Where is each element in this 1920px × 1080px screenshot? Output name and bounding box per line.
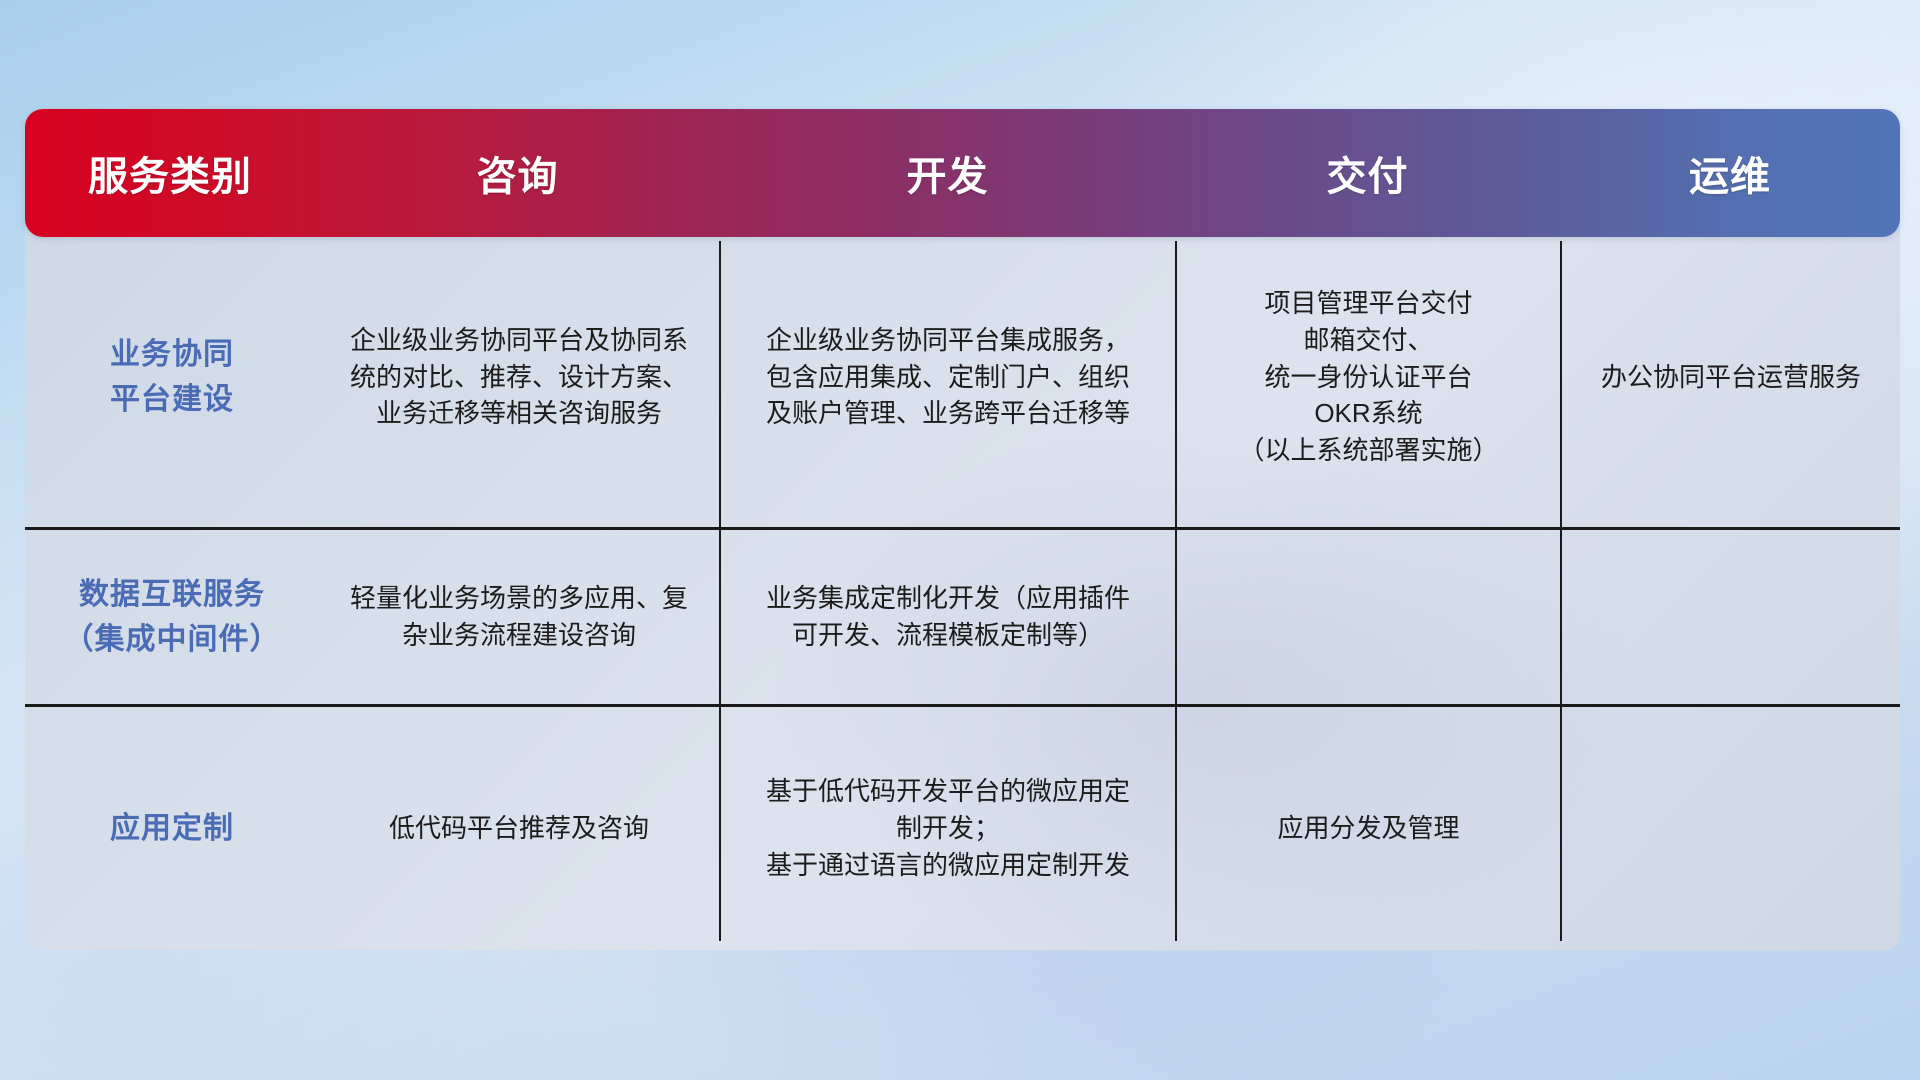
header-cell-consulting: 咨询 <box>315 144 720 202</box>
cell-category-3: 应用定制 <box>110 806 234 851</box>
cell-operations-1-wrap[interactable]: 办公协同平台运营服务 <box>1562 227 1900 527</box>
table-row[interactable]: 数据互联服务 （集成中间件） <box>25 530 319 704</box>
cell-consulting-2-wrap[interactable]: 轻量化业务场景的多应用、复 杂业务流程建设咨询 <box>319 530 719 704</box>
header-cell-delivery: 交付 <box>1175 144 1560 202</box>
cell-consulting-3: 低代码平台推荐及咨询 <box>389 810 649 847</box>
cell-development-3: 基于低代码开发平台的微应用定 制开发； 基于通过语言的微应用定制开发 <box>766 773 1130 884</box>
table-row[interactable]: 业务协同 平台建设 <box>25 227 319 527</box>
cell-delivery-1: 项目管理平台交付 邮箱交付、 统一身份认证平台 OKR系统 （以上系统部署实施） <box>1238 285 1498 470</box>
cell-consulting-3-wrap[interactable]: 低代码平台推荐及咨询 <box>319 707 719 950</box>
cell-development-1-wrap[interactable]: 企业级业务协同平台集成服务， 包含应用集成、定制门户、组织 及账户管理、业务跨平… <box>721 227 1175 527</box>
cell-category-1: 业务协同 平台建设 <box>110 332 234 422</box>
cell-operations-3-wrap[interactable] <box>1562 707 1900 950</box>
cell-delivery-1-wrap[interactable]: 项目管理平台交付 邮箱交付、 统一身份认证平台 OKR系统 （以上系统部署实施） <box>1177 227 1560 527</box>
header-cell-operations: 运维 <box>1560 144 1900 202</box>
cell-operations-2-wrap[interactable] <box>1562 530 1900 704</box>
cell-development-2: 业务集成定制化开发（应用插件 可开发、流程模板定制等） <box>766 580 1130 654</box>
cell-development-3-wrap[interactable]: 基于低代码开发平台的微应用定 制开发； 基于通过语言的微应用定制开发 <box>721 707 1175 950</box>
cell-development-1: 企业级业务协同平台集成服务， 包含应用集成、定制门户、组织 及账户管理、业务跨平… <box>766 322 1130 433</box>
header-cell-development: 开发 <box>720 144 1175 202</box>
cell-delivery-3-wrap[interactable]: 应用分发及管理 <box>1177 707 1560 950</box>
cell-delivery-3: 应用分发及管理 <box>1277 810 1459 847</box>
slide-canvas: 服务类别 咨询 开发 交付 运维 业务协同 平台建设 企业级业务协同平台及协同系… <box>0 0 1920 1080</box>
cell-category-2: 数据互联服务 （集成中间件） <box>64 572 281 662</box>
cell-consulting-2: 轻量化业务场景的多应用、复 杂业务流程建设咨询 <box>350 580 688 654</box>
cell-consulting-1-wrap[interactable]: 企业级业务协同平台及协同系 统的对比、推荐、设计方案、 业务迁移等相关咨询服务 <box>319 227 719 527</box>
cell-operations-1: 办公协同平台运营服务 <box>1601 359 1861 396</box>
service-matrix-table: 服务类别 咨询 开发 交付 运维 业务协同 平台建设 企业级业务协同平台及协同系… <box>25 109 1900 950</box>
cell-consulting-1: 企业级业务协同平台及协同系 统的对比、推荐、设计方案、 业务迁移等相关咨询服务 <box>350 322 688 433</box>
table-cells-layer: 业务协同 平台建设 企业级业务协同平台及协同系 统的对比、推荐、设计方案、 业务… <box>25 227 1900 950</box>
header-cell-service-category: 服务类别 <box>25 144 315 202</box>
table-header-row: 服务类别 咨询 开发 交付 运维 <box>25 109 1900 237</box>
cell-delivery-2-wrap[interactable] <box>1177 530 1560 704</box>
table-row[interactable]: 应用定制 <box>25 707 319 950</box>
cell-development-2-wrap[interactable]: 业务集成定制化开发（应用插件 可开发、流程模板定制等） <box>721 530 1175 704</box>
